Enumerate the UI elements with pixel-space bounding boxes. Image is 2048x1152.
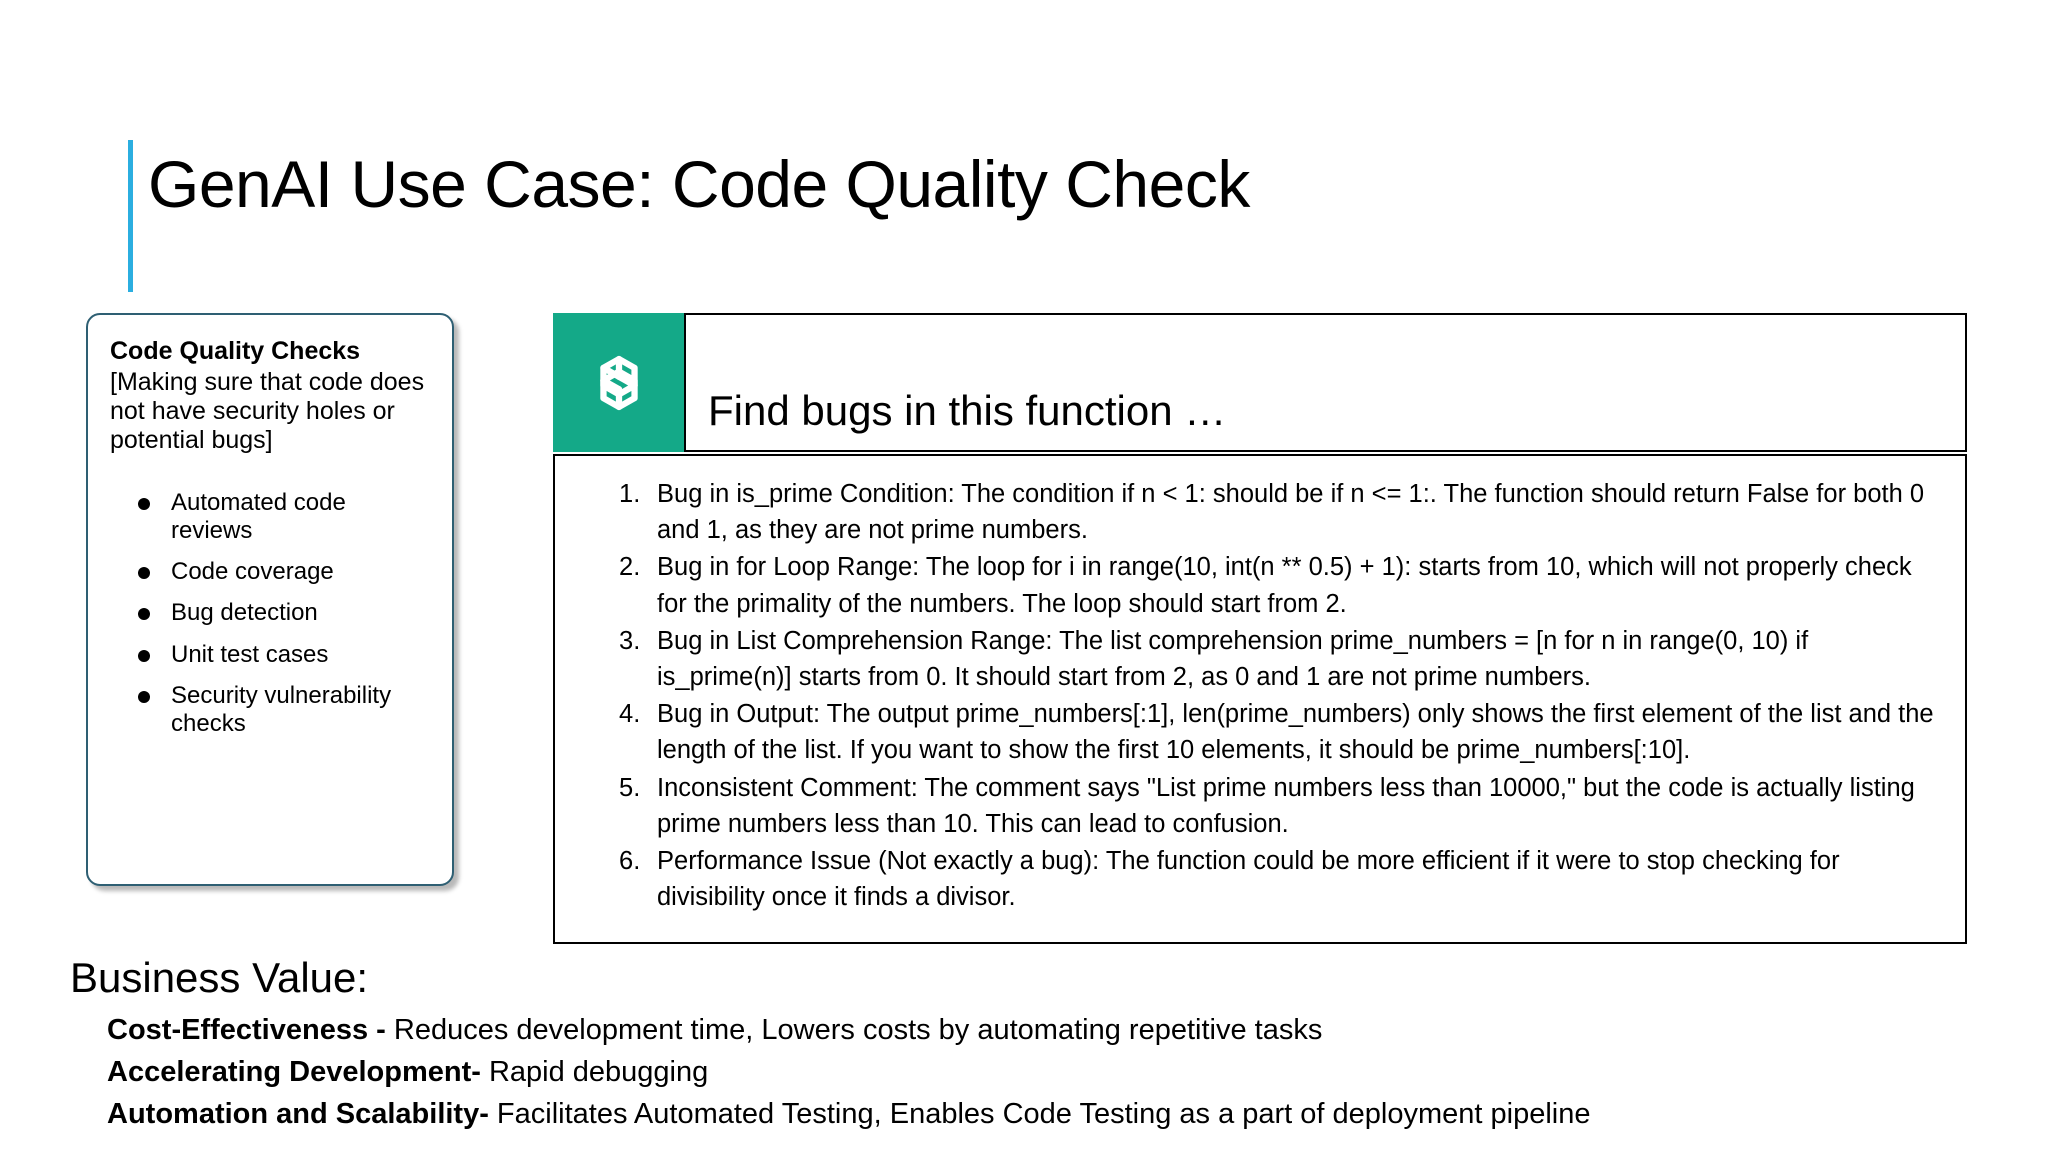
bug-finding-item: Bug in List Comprehension Range: The lis… — [619, 623, 1945, 695]
card-content: Code Quality Checks [Making sure that co… — [88, 315, 452, 739]
openai-logo-badge — [553, 313, 684, 452]
bug-finding-item: Inconsistent Comment: The comment says "… — [619, 770, 1945, 842]
list-item-label: Security vulnerability checks — [171, 682, 391, 737]
business-value-row: Accelerating Development- Rapid debuggin… — [107, 1051, 1970, 1093]
list-item-label: Automated code reviews — [171, 489, 346, 544]
business-value-description: Rapid debugging — [481, 1056, 708, 1088]
business-value-row: Cost-Effectiveness - Reduces development… — [107, 1009, 1970, 1051]
openai-logo-icon — [577, 341, 661, 425]
chatgpt-conversation-panel: Find bugs in this function … Bug in is_p… — [553, 313, 1967, 944]
page-title: GenAI Use Case: Code Quality Check — [148, 148, 1250, 221]
list-item: Bug detection — [138, 599, 430, 627]
business-value-label: Automation and Scalability- — [107, 1098, 489, 1130]
code-quality-checks-list: Automated code reviews Code coverage Bug… — [110, 489, 430, 739]
list-item: Automated code reviews — [138, 489, 430, 546]
bug-finding-item: Bug in Output: The output prime_numbers[… — [619, 696, 1945, 768]
bullet-dot-icon — [138, 498, 150, 510]
list-item-label: Unit test cases — [171, 641, 328, 668]
bullet-dot-icon — [138, 650, 150, 662]
business-value-label: Cost-Effectiveness - — [107, 1014, 386, 1046]
card-subtitle: [Making sure that code does not have sec… — [110, 368, 430, 455]
answer-box: Bug in is_prime Condition: The condition… — [553, 454, 1967, 944]
bug-finding-item: Performance Issue (Not exactly a bug): T… — [619, 843, 1945, 915]
bullet-dot-icon — [138, 608, 150, 620]
code-quality-checks-card: Code Quality Checks [Making sure that co… — [86, 313, 454, 886]
title-accent-bar — [128, 140, 133, 292]
list-item-label: Code coverage — [171, 558, 334, 585]
list-item-label: Bug detection — [171, 599, 318, 626]
bug-finding-item: Bug in is_prime Condition: The condition… — [619, 476, 1945, 548]
business-value-description: Reduces development time, Lowers costs b… — [386, 1014, 1323, 1046]
list-item: Security vulnerability checks — [138, 682, 430, 739]
business-value-label: Accelerating Development- — [107, 1056, 481, 1088]
business-value-section: Business Value: Cost-Effectiveness - Red… — [70, 955, 1970, 1135]
bullet-dot-icon — [138, 691, 150, 703]
prompt-text: Find bugs in this function … — [686, 390, 1226, 450]
business-value-description: Facilitates Automated Testing, Enables C… — [489, 1098, 1591, 1130]
list-item: Code coverage — [138, 558, 430, 586]
chat-header: Find bugs in this function … — [553, 313, 1967, 452]
bug-findings-list: Bug in is_prime Condition: The condition… — [555, 456, 1965, 915]
bullet-dot-icon — [138, 567, 150, 579]
business-value-row: Automation and Scalability- Facilitates … — [107, 1093, 1970, 1135]
bug-finding-item: Bug in for Loop Range: The loop for i in… — [619, 549, 1945, 621]
card-heading: Code Quality Checks — [110, 336, 430, 367]
prompt-box: Find bugs in this function … — [684, 313, 1967, 452]
business-value-heading: Business Value: — [70, 955, 1970, 1001]
list-item: Unit test cases — [138, 641, 430, 669]
